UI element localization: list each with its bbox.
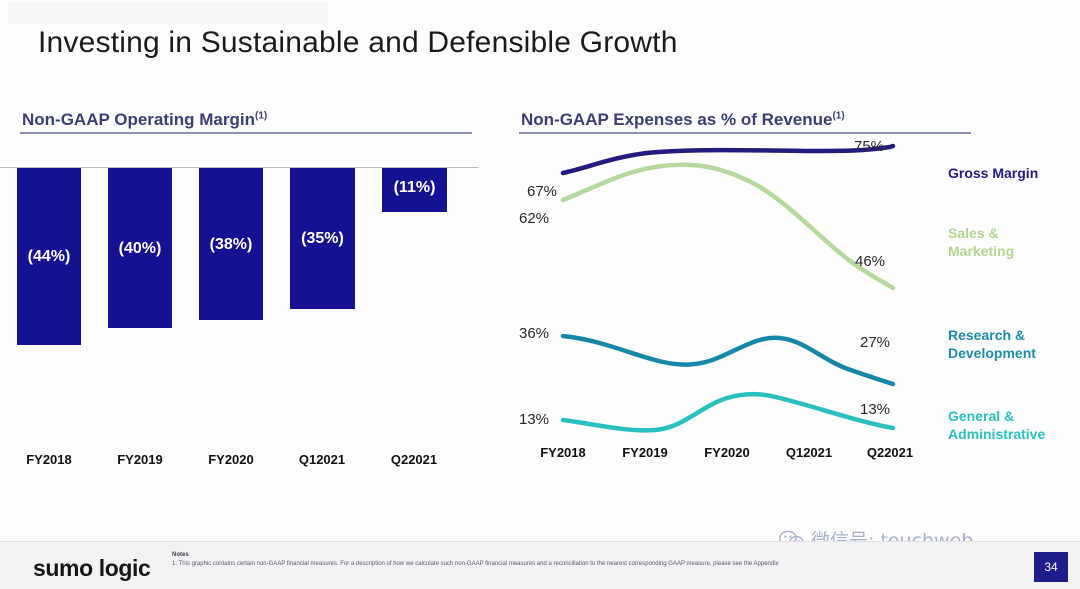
line-category-q22021: Q22021: [850, 445, 930, 460]
sumo-logic-logo: sumo logic: [33, 555, 150, 582]
left-panel-heading-text: Non-GAAP Operating Margin: [22, 110, 255, 129]
expenses-line-chart: 67% 75% 62% 46% 36% 27% 13% 13% Gross Ma…: [505, 140, 1080, 480]
legend-general-administrative-label: General & Administrative: [948, 408, 1045, 442]
right-panel-heading: Non-GAAP Expenses as % of Revenue(1): [521, 110, 845, 130]
slide-footer: sumo logic Notes 1. This graphic contain…: [0, 541, 1080, 589]
bar-value-label: (11%): [382, 179, 447, 197]
legend-general-administrative[interactable]: General & Administrative: [948, 407, 1078, 443]
right-panel-heading-text: Non-GAAP Expenses as % of Revenue: [521, 110, 832, 129]
page-number-badge: 34: [1034, 552, 1068, 582]
footnote-text: 1. This graphic contains certain non-GAA…: [172, 561, 779, 567]
notes-label: Notes: [172, 552, 189, 558]
label-research-development-start: 36%: [519, 325, 549, 342]
bar-fy2020[interactable]: (38%): [199, 168, 263, 320]
left-panel-footnote-marker: (1): [255, 110, 267, 121]
right-panel-rule: [519, 132, 971, 134]
bar-category-q12021: Q12021: [282, 452, 362, 467]
label-research-development-end: 27%: [860, 334, 890, 351]
slide-canvas: Investing in Sustainable and Defensible …: [0, 0, 1080, 589]
bar-value-label: (35%): [290, 230, 355, 248]
label-gross-margin-start: 67%: [527, 183, 557, 200]
bar-fy2019[interactable]: (40%): [108, 168, 172, 328]
bar-category-fy2020: FY2020: [191, 452, 271, 467]
label-sales-marketing-end: 46%: [855, 253, 885, 270]
line-category-fy2020: FY2020: [687, 445, 767, 460]
bar-category-fy2018: FY2018: [9, 452, 89, 467]
bar-q22021[interactable]: (11%): [382, 168, 447, 212]
legend-research-development-label: Research & Development: [948, 327, 1036, 361]
legend-gross-margin-label: Gross Margin: [948, 165, 1038, 181]
bar-value-label: (40%): [108, 240, 172, 258]
left-panel-heading: Non-GAAP Operating Margin(1): [22, 110, 267, 130]
bar-fy2018[interactable]: (44%): [17, 168, 81, 345]
line-general-administrative[interactable]: [563, 394, 893, 430]
line-category-q12021: Q12021: [769, 445, 849, 460]
scan-artifact: [8, 2, 328, 24]
legend-sales-marketing-label: Sales & Marketing: [948, 225, 1014, 259]
bar-category-q22021: Q22021: [374, 452, 454, 467]
bar-value-label: (38%): [199, 236, 263, 254]
left-panel-rule: [20, 132, 472, 134]
page-title: Investing in Sustainable and Defensible …: [38, 26, 678, 60]
legend-gross-margin[interactable]: Gross Margin: [948, 164, 1038, 182]
line-gross-margin[interactable]: [563, 146, 893, 173]
label-sales-marketing-start: 62%: [519, 210, 549, 227]
line-category-fy2019: FY2019: [605, 445, 685, 460]
label-general-administrative-end: 13%: [860, 401, 890, 418]
operating-margin-bar-chart: (44%) (40%) (38%) (35%) (11%) FY2018 FY2…: [0, 150, 480, 480]
line-research-development[interactable]: [563, 336, 893, 384]
label-gross-margin-end: 75%: [854, 138, 884, 155]
bar-q12021[interactable]: (35%): [290, 168, 355, 309]
label-general-administrative-start: 13%: [519, 411, 549, 428]
bar-category-fy2019: FY2019: [100, 452, 180, 467]
right-panel-footnote-marker: (1): [832, 110, 844, 121]
line-sales-marketing[interactable]: [563, 165, 893, 288]
legend-sales-marketing[interactable]: Sales & Marketing: [948, 224, 1058, 260]
line-category-fy2018: FY2018: [523, 445, 603, 460]
legend-research-development[interactable]: Research & Development: [948, 326, 1068, 362]
bar-value-label: (44%): [17, 248, 81, 266]
